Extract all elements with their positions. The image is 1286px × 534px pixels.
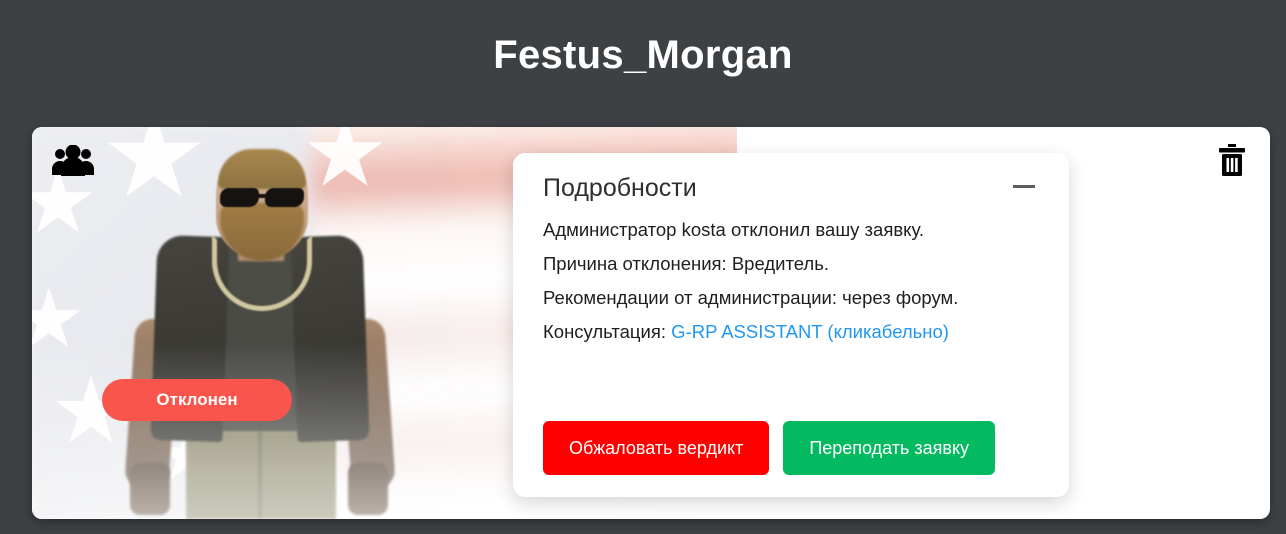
details-panel: Подробности Администратор kosta отклонил… xyxy=(513,153,1069,497)
detail-line-admin: Администратор kosta отклонил вашу заявку… xyxy=(543,213,1039,247)
minus-icon[interactable] xyxy=(1009,175,1039,197)
character-hair xyxy=(218,149,306,189)
grp-assistant-link[interactable]: G-RP ASSISTANT (кликабельно) xyxy=(671,321,949,342)
sunglasses-icon xyxy=(218,188,306,207)
details-panel-header: Подробности xyxy=(543,175,1039,203)
application-card: Отклонен Подробности Администратор kosta… xyxy=(32,127,1270,519)
character-glove-left xyxy=(130,463,170,515)
action-buttons: Обжаловать вердикт Переподать заявку xyxy=(543,421,995,475)
users-group-icon[interactable] xyxy=(50,145,96,177)
page-header: Festus_Morgan xyxy=(0,0,1286,110)
page-title: Festus_Morgan xyxy=(493,35,793,75)
detail-line-reason: Причина отклонения: Вредитель. xyxy=(543,247,1039,281)
character-glove-right xyxy=(348,463,388,515)
trash-icon[interactable] xyxy=(1218,143,1246,177)
player-character xyxy=(94,134,424,519)
detail-line-recommendation: Рекомендации от администрации: через фор… xyxy=(543,281,1039,315)
consultation-label: Консультация: xyxy=(543,321,671,342)
detail-line-consultation: Консультация: G-RP ASSISTANT (кликабельн… xyxy=(543,315,1039,349)
status-badge: Отклонен xyxy=(102,379,292,421)
details-title: Подробности xyxy=(543,175,697,203)
details-body: Администратор kosta отклонил вашу заявку… xyxy=(543,213,1039,349)
appeal-verdict-button[interactable]: Обжаловать вердикт xyxy=(543,421,769,475)
resubmit-application-button[interactable]: Переподать заявку xyxy=(783,421,995,475)
